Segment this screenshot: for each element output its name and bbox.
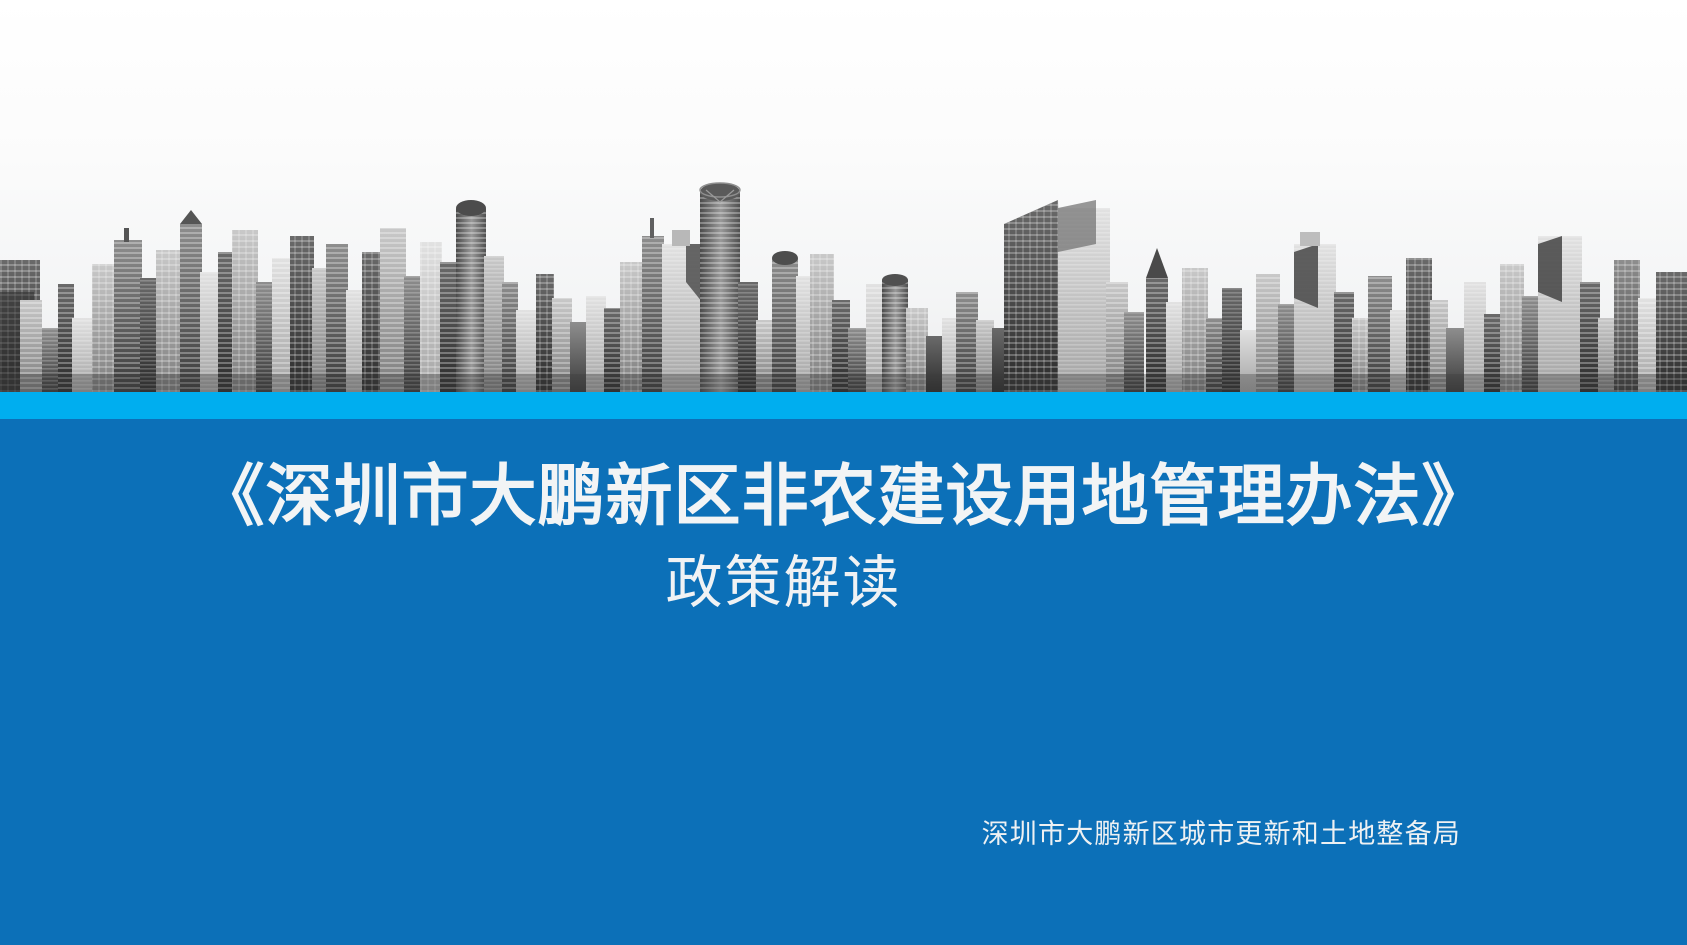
page-title: 《深圳市大鹏新区非农建设用地管理办法》	[0, 459, 1687, 534]
subtitle-row: 政策解读	[0, 551, 1687, 617]
issuing-authority: 深圳市大鹏新区城市更新和土地整备局	[0, 812, 1461, 851]
accent-stripe	[0, 392, 1687, 419]
title-slide: 《深圳市大鹏新区非农建设用地管理办法》 政策解读 深圳市大鹏新区城市更新和土地整…	[0, 0, 1687, 945]
sky-background	[0, 0, 1687, 392]
footer-row: 深圳市大鹏新区城市更新和土地整备局	[0, 812, 1687, 851]
page-subtitle: 政策解读	[0, 551, 1567, 617]
blue-content-panel: 《深圳市大鹏新区非农建设用地管理办法》 政策解读 深圳市大鹏新区城市更新和土地整…	[0, 419, 1687, 945]
title-block: 《深圳市大鹏新区非农建设用地管理办法》	[0, 459, 1687, 534]
city-skyline-photo	[0, 132, 1687, 392]
